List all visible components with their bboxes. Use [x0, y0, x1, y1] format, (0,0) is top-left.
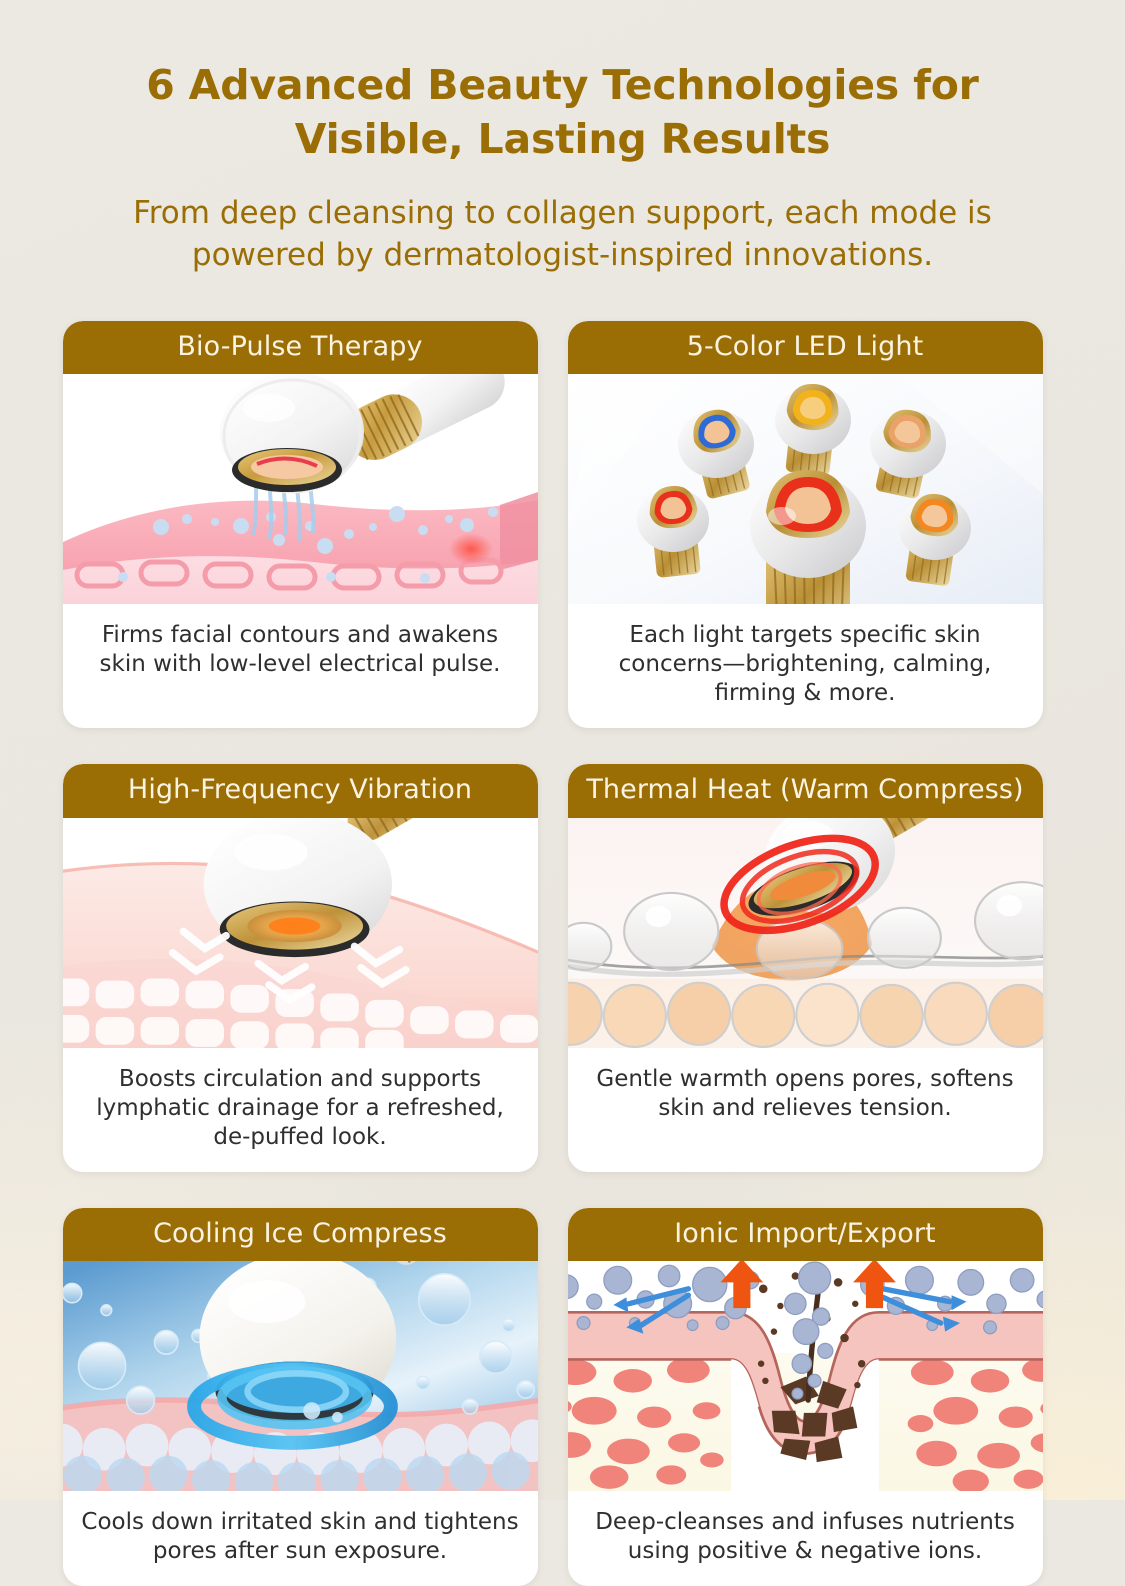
card-caption: Each light targets specific skin concern…	[568, 604, 1043, 728]
card-caption: Cools down irritated skin and tightens p…	[63, 1491, 538, 1586]
card-title: Ionic Import/Export	[568, 1208, 1043, 1262]
feature-card-bio-pulse-therapy: Bio-Pulse Therapy	[63, 321, 538, 729]
led-light-illustration	[568, 374, 1043, 604]
vibration-illustration	[63, 818, 538, 1048]
page-title: 6 Advanced Beauty Technologies for Visib…	[55, 58, 1070, 166]
feature-card-5-color-led-light: 5-Color LED Light	[568, 321, 1043, 729]
card-title: Thermal Heat (Warm Compress)	[568, 764, 1043, 818]
card-title: Bio-Pulse Therapy	[63, 321, 538, 375]
card-caption: Gentle warmth opens pores, softens skin …	[568, 1048, 1043, 1172]
card-title: Cooling Ice Compress	[63, 1208, 538, 1262]
card-caption: Deep-cleanses and infuses nutrients usin…	[568, 1491, 1043, 1586]
card-caption: Firms facial contours and awakens skin w…	[63, 604, 538, 728]
infographic-page: 6 Advanced Beauty Technologies for Visib…	[0, 0, 1125, 1500]
feature-card-high-frequency-vibration: High-Frequency Vibration	[63, 764, 538, 1172]
feature-card-thermal-heat: Thermal Heat (Warm Compress)	[568, 764, 1043, 1172]
cooling-illustration	[63, 1261, 538, 1491]
feature-card-grid: Bio-Pulse Therapy	[63, 321, 1063, 1586]
thermal-heat-illustration	[568, 818, 1043, 1048]
card-title: 5-Color LED Light	[568, 321, 1043, 375]
bio-pulse-illustration	[63, 374, 538, 604]
feature-card-cooling-ice-compress: Cooling Ice Compress	[63, 1208, 538, 1586]
feature-card-ionic-import-export: Ionic Import/Export	[568, 1208, 1043, 1586]
ionic-illustration	[568, 1261, 1043, 1491]
page-header: 6 Advanced Beauty Technologies for Visib…	[0, 0, 1125, 277]
card-caption: Boosts circulation and supports lymphati…	[63, 1048, 538, 1172]
page-subtitle: From deep cleansing to collagen support,…	[55, 192, 1070, 276]
card-title: High-Frequency Vibration	[63, 764, 538, 818]
